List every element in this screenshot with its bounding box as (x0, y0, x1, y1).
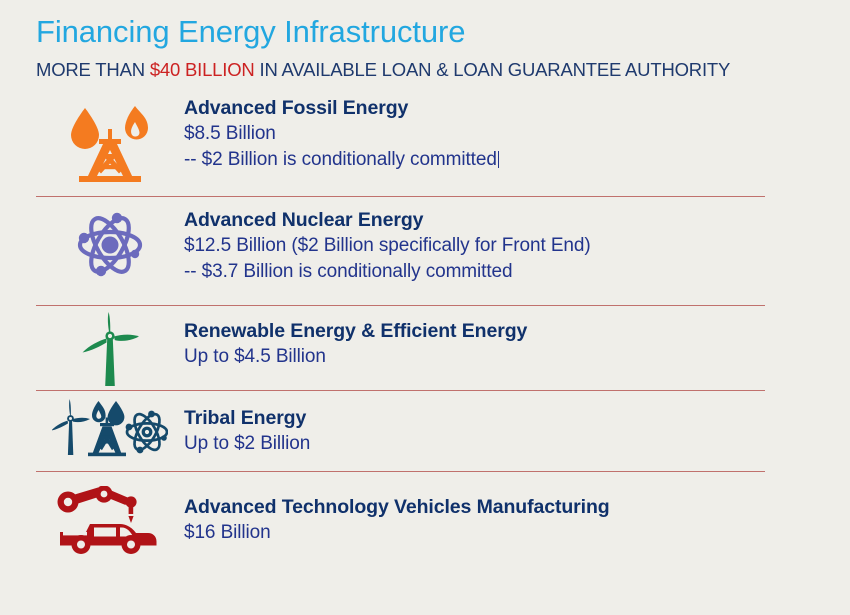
subtitle-suffix: IN AVAILABLE LOAN & LOAN GUARANTEE AUTHO… (255, 59, 731, 80)
program-title: Tribal Energy (184, 405, 850, 431)
program-title: Renewable Energy & Efficient Energy (184, 318, 850, 344)
program-text-advanced-technology-vehicles-manufacturing: Advanced Technology Vehicles Manufacturi… (184, 472, 850, 547)
program-row-tribal-energy: Tribal Energy Up to $2 Billion (0, 391, 850, 471)
subtitle-amount: $40 BILLION (150, 59, 255, 80)
program-amount: Up to $2 Billion (184, 431, 850, 457)
program-text-advanced-fossil-energy: Advanced Fossil Energy $8.5 Billion -- $… (184, 92, 850, 174)
program-row-advanced-nuclear-energy: Advanced Nuclear Energy $12.5 Billion ($… (0, 197, 850, 305)
program-row-advanced-technology-vehicles-manufacturing: Advanced Technology Vehicles Manufacturi… (0, 472, 850, 564)
atom-icon (36, 197, 184, 285)
robot-arm-truck-icon (36, 472, 184, 554)
program-title: Advanced Nuclear Energy (184, 207, 850, 233)
tribal-energy-combo-icon (36, 391, 184, 459)
program-text-tribal-energy: Tribal Energy Up to $2 Billion (184, 391, 850, 458)
program-amount: $16 Billion (184, 520, 850, 546)
program-amount: $8.5 Billion (184, 121, 850, 147)
program-text-advanced-nuclear-energy: Advanced Nuclear Energy $12.5 Billion ($… (184, 197, 850, 286)
program-note: -- $2 Billion is conditionally committed (184, 147, 850, 173)
slide-header: Financing Energy Infrastructure MORE THA… (0, 0, 850, 81)
program-row-renewable-energy: Renewable Energy & Efficient Energy Up t… (0, 306, 850, 390)
page-subtitle: MORE THAN $40 BILLION IN AVAILABLE LOAN … (36, 59, 850, 81)
program-title: Advanced Fossil Energy (184, 95, 850, 121)
wind-turbine-icon (36, 306, 184, 388)
program-text-renewable-energy: Renewable Energy & Efficient Energy Up t… (184, 306, 850, 371)
subtitle-prefix: MORE THAN (36, 59, 150, 80)
program-note: -- $3.7 Billion is conditionally committ… (184, 259, 850, 285)
program-row-advanced-fossil-energy: Advanced Fossil Energy $8.5 Billion -- $… (0, 92, 850, 196)
slide-root: Financing Energy Infrastructure MORE THA… (0, 0, 850, 615)
program-title: Advanced Technology Vehicles Manufacturi… (184, 494, 850, 520)
page-title: Financing Energy Infrastructure (36, 14, 850, 50)
program-amount: $12.5 Billion ($2 Billion specifically f… (184, 233, 850, 259)
oil-derrick-icon (36, 92, 184, 184)
program-amount: Up to $4.5 Billion (184, 344, 850, 370)
program-list: Advanced Fossil Energy $8.5 Billion -- $… (0, 92, 850, 564)
